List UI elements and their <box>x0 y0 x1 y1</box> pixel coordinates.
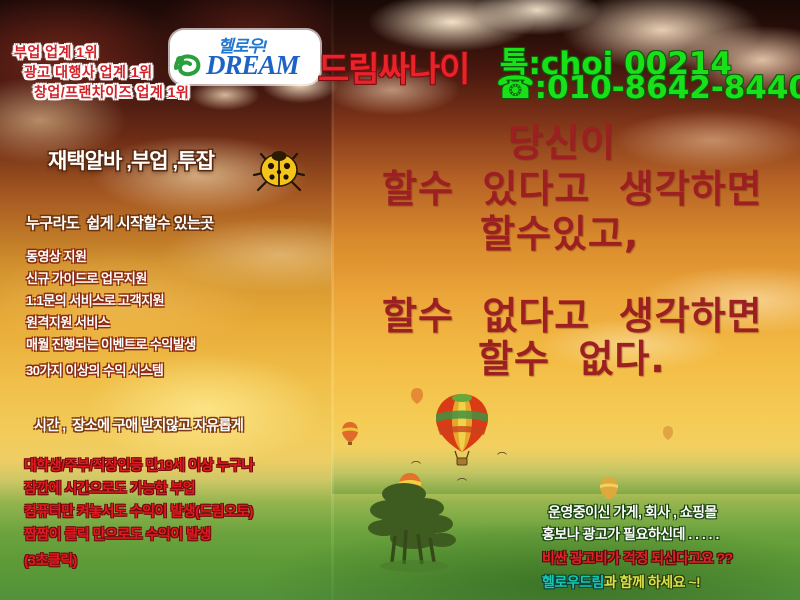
footer-line-1: 운영중이신 가게, 회사 , 쇼핑몰 <box>548 502 717 522</box>
bird-icon: ︵ <box>411 456 421 466</box>
benefit-item: 신규 가이드로 업무지원 <box>26 268 147 287</box>
footer-brand-rest: 과 함께 하세요 ~! <box>604 572 700 592</box>
freedom-line: 시간 , 장소에 구애 받지않고 자유롭게 <box>34 415 243 435</box>
small-balloon-icon <box>341 421 359 445</box>
hot-air-balloon-icon <box>434 392 490 468</box>
ladybug-icon <box>252 142 306 196</box>
small-balloon-icon <box>662 425 674 441</box>
small-balloon-icon <box>410 387 424 405</box>
red-line-item: 컴퓨터만 켜놓서도 수익이 발생(드림오토) <box>24 501 253 521</box>
quote-line: 할수 없다. <box>478 328 666 383</box>
left-subheadline: 누구라도 쉽게 시작할수 있는곳 <box>26 212 214 233</box>
left-headline: 재택알바 ,부업 ,투잡 <box>48 145 214 175</box>
quote-line: 할수있고, <box>480 203 639 258</box>
benefit-item: 30가지 이상의 수익 시스템 <box>26 360 163 379</box>
badge-rank-1: 부업 업계 1위 <box>14 42 98 62</box>
footer-line-4: 헬로우드림 과 함께 하세요 ~! <box>542 572 700 592</box>
phone-contact-line[interactable]: ☎:010-8642-8440 <box>496 70 800 106</box>
benefit-item: 동영상 지원 <box>26 246 86 265</box>
benefit-item: 1:1문의 서비스로 고객지원 <box>26 290 164 309</box>
badge-rank-3: 창업/프랜차이즈 업계 1위 <box>34 82 189 102</box>
red-line-item: 짬짬이 클릭 만으로도 수익이 발생 <box>24 524 211 544</box>
small-balloon-icon <box>599 476 619 502</box>
red-line-item: 대학생/주부/직장인등 만19세 이상 누구나 <box>24 455 254 475</box>
bird-icon: ︵ <box>497 447 507 457</box>
logo-badge[interactable]: 헬로우! DREAM <box>170 30 320 84</box>
footer-brand-name: 헬로우드림 <box>542 572 604 592</box>
badge-rank-2: 광고 대행사 업계 1위 <box>24 62 153 82</box>
brand-title: 드림싸나이 <box>318 42 469 91</box>
footer-line-3: 비싼 광고비가 걱정 되신다고요 ?? <box>542 548 733 568</box>
footer-line-2: 홍보나 광고가 필요하신데 . . . . . <box>542 524 719 544</box>
benefit-item: 매월 진행되는 이벤트로 수익발생 <box>26 334 196 353</box>
red-line-item: 잠깐에 시간으로도 가능한 부업 <box>24 478 195 498</box>
tree-icon <box>362 468 470 580</box>
green-leaf-swirl-icon <box>172 50 206 80</box>
red-line-item: (3초클릭) <box>24 550 77 570</box>
logo-dream-text: DREAM <box>206 50 299 81</box>
banner-canvas: ︵ ︵ ︵ 부업 업계 1위 광고 대행사 업계 1위 창업/프랜차이즈 업계 … <box>0 0 800 600</box>
benefit-item: 원격지원 서비스 <box>26 312 109 331</box>
